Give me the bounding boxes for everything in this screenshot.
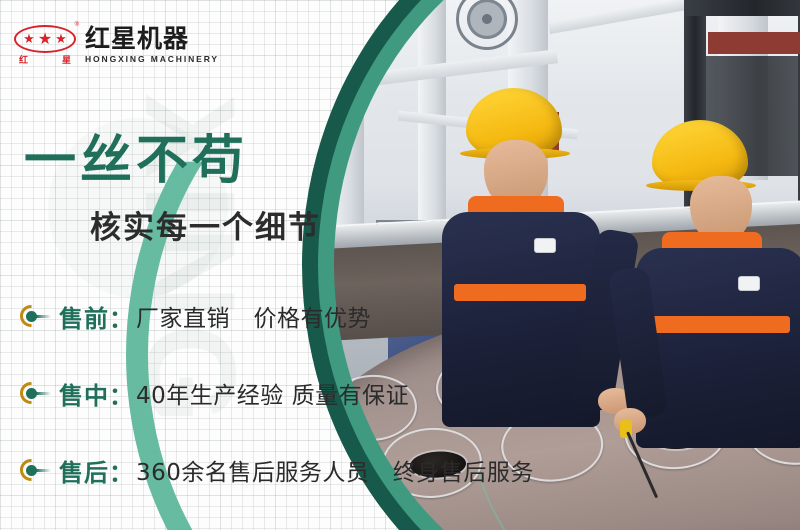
registered-mark: ® [75, 22, 79, 28]
worker-stripe [650, 316, 790, 333]
worker-badge [738, 276, 760, 291]
bullet-dot-icon [18, 304, 52, 328]
promo-banner: XING [0, 0, 800, 530]
logo-name-en: HONGXING MACHINERY [85, 55, 219, 64]
feature-list: 售前： 厂家直销 价格有优势 售中： 40年生产经验 质量有保证 售后： 360… [18, 296, 638, 527]
logo-name-cn: 红星机器 [85, 26, 219, 51]
logo-oval-stars: ★ ★ ★ [14, 25, 76, 53]
logo-char-xing: 星 [62, 53, 71, 66]
logo-mark: ★ ★ ★ ® 红 星 [14, 22, 76, 68]
list-item-label: 售前： [59, 299, 134, 334]
bullet-dot-icon [18, 381, 52, 405]
star-icon: ★ [55, 31, 67, 47]
logo-wordmark: 红星机器 HONGXING MACHINERY [85, 26, 219, 64]
photo-machine-frame [684, 0, 800, 16]
logo-char-hong: 红 [19, 53, 28, 66]
list-item-label: 售中： [59, 376, 134, 411]
star-icon: ★ [38, 29, 52, 49]
list-item-label: 售后： [59, 453, 134, 488]
logo-subchars: 红 星 [14, 53, 76, 66]
list-item: 售后： 360余名售后服务人员 终身售后服务 [18, 450, 638, 490]
list-item-text: 40年生产经验 质量有保证 [136, 376, 409, 410]
list-item: 售前： 厂家直销 价格有优势 [18, 296, 638, 336]
list-item: 售中： 40年生产经验 质量有保证 [18, 373, 638, 413]
brand-logo[interactable]: ★ ★ ★ ® 红 星 红星机器 HONGXING MACHINERY [14, 22, 219, 68]
star-icon: ★ [23, 31, 35, 47]
photo-red-panel [708, 32, 800, 54]
subheadline: 核实每一个细节 [90, 202, 321, 247]
bullet-dot-icon [18, 458, 52, 482]
list-item-text: 360余名售后服务人员 终身售后服务 [136, 453, 534, 487]
list-item-text: 厂家直销 价格有优势 [136, 299, 371, 333]
headline: 一丝不苟 [24, 118, 248, 193]
